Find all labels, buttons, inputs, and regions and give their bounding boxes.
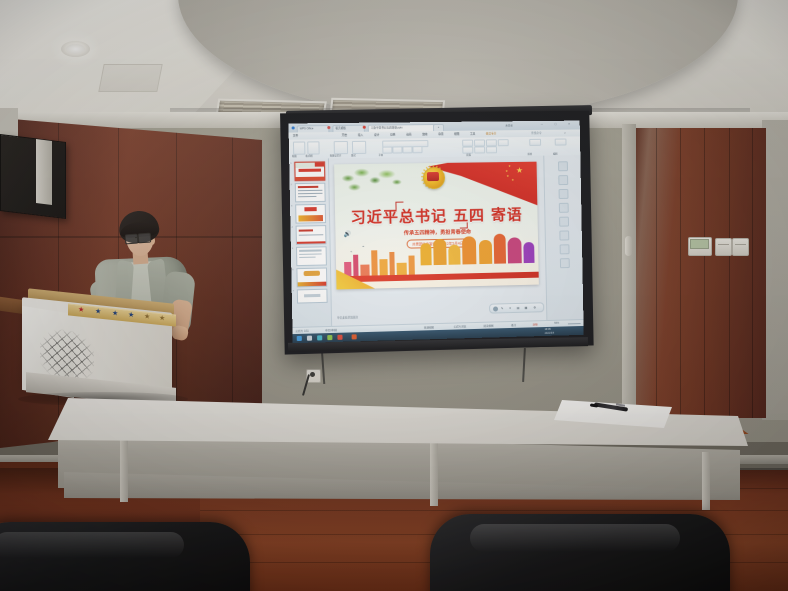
ribbon-font-label: 字体 <box>378 153 383 157</box>
flag-star-icon: ★ <box>506 175 509 178</box>
ribbon-line-spacing-button[interactable] <box>486 146 497 153</box>
foliage-decoration <box>340 165 403 196</box>
light-switch-icon[interactable] <box>732 238 749 256</box>
close-button[interactable]: ✕ <box>568 123 570 126</box>
view-sorter-button[interactable]: 幻灯片浏览 <box>454 324 467 328</box>
search-icon[interactable]: ⌕ <box>564 131 566 136</box>
maximize-button[interactable]: ▢ <box>554 123 556 126</box>
flag-star-icon: ★ <box>505 170 508 173</box>
ribbon-arrange-button[interactable] <box>529 139 541 146</box>
podium-star-icon: ★ <box>159 315 165 323</box>
slide-title: 习近平总书记 五四 寄语 <box>335 203 538 228</box>
flag-star-icon: ★ <box>511 179 514 182</box>
podium-star-icon: ★ <box>78 306 84 314</box>
podium-star-icon: ★ <box>112 310 118 318</box>
menu-member[interactable]: 会员专享 <box>486 131 497 136</box>
podium-star-icon: ★ <box>95 308 101 316</box>
wps-logo-icon <box>292 126 295 129</box>
browser-icon[interactable] <box>337 335 342 340</box>
tool-icon-elements[interactable] <box>559 189 569 199</box>
explorer-icon[interactable] <box>317 335 322 340</box>
downlight-lens <box>66 44 85 54</box>
thumb-number: 7 <box>293 290 294 292</box>
outlet-socket <box>310 372 315 377</box>
tool-icon-text[interactable] <box>559 203 569 213</box>
emblem-center <box>427 172 439 181</box>
ceiling-access-hatch <box>98 64 162 92</box>
notes-placeholder[interactable]: 单击此处添加备注 <box>337 315 358 320</box>
glasses-right-lens <box>138 233 152 244</box>
search-icon[interactable] <box>307 336 312 341</box>
floating-icon-grid[interactable]: ▦ <box>525 306 528 310</box>
thumb-number: 1 <box>290 163 291 165</box>
slide-thumbnail[interactable] <box>295 204 326 224</box>
menu-home[interactable]: 开始 <box>342 133 348 138</box>
slide-canvas[interactable]: ★ ★ ★ ★ ★ ⌁ ⌁ ⌁ 习近平总书记 <box>329 156 546 326</box>
menu-view[interactable]: 视图 <box>454 132 459 137</box>
chair-right-highlight <box>470 524 680 552</box>
view-normal-button[interactable]: 普通视图 <box>424 325 434 329</box>
floating-icon-settings[interactable]: ⚙ <box>533 305 536 309</box>
table-leg <box>430 442 438 506</box>
podium-star-icon: ★ <box>144 313 150 321</box>
slide-subtitle: 传承五四精神，勇担青春使命 <box>335 227 538 238</box>
wps-office-window: WPS Office 稻壳模板 习近平总书记五四寄语.pptx + 未登录 — … <box>288 121 583 344</box>
wall-speaker-face <box>36 139 52 205</box>
ribbon-layout-label: 版式 <box>351 153 356 157</box>
ribbon-format-painter-label: 格式刷 <box>305 154 312 158</box>
zoom-level[interactable]: 56% <box>554 322 559 325</box>
conference-room-photo: WPS Office 稻壳模板 习近平总书记五四寄语.pptx + 未登录 — … <box>0 0 788 591</box>
slide-thumbnail[interactable] <box>296 246 327 266</box>
menu-review[interactable]: 审阅 <box>438 132 443 137</box>
table-leg <box>702 452 710 510</box>
search-input[interactable]: 查找命令 <box>531 131 542 136</box>
ribbon-align-center-button[interactable] <box>498 139 509 146</box>
light-switch-icon[interactable] <box>715 238 732 256</box>
wps-icon[interactable] <box>327 335 332 340</box>
slide-thumbnail[interactable] <box>295 183 326 203</box>
menu-file[interactable]: 文件 <box>293 133 299 138</box>
current-slide[interactable]: ★ ★ ★ ★ ★ ⌁ ⌁ ⌁ 习近平总书记 <box>334 162 539 290</box>
thermostat-display <box>690 239 709 249</box>
flag-star-large-icon: ★ <box>516 167 523 175</box>
wall-speaker <box>0 134 66 219</box>
tool-icon-chart[interactable] <box>560 244 570 254</box>
ribbon-bold-button[interactable] <box>382 147 392 154</box>
view-slideshow-button[interactable]: 放映 <box>533 322 538 326</box>
door-jamb <box>622 124 636 420</box>
ppt-icon[interactable] <box>352 334 357 339</box>
thumb-number: 2 <box>291 184 292 186</box>
menu-tools[interactable]: 工具 <box>470 132 475 137</box>
ribbon-edit-button[interactable] <box>555 139 567 146</box>
tool-icon-properties[interactable] <box>558 161 568 171</box>
ppt-file-icon <box>363 126 366 129</box>
ribbon-outdent-button[interactable] <box>474 146 485 153</box>
floating-toolbar[interactable]: ✎ ✦ ▤ ▦ ⚙ <box>489 302 544 313</box>
zoom-slider[interactable] <box>568 323 581 324</box>
thumb-number: 4 <box>291 227 292 229</box>
menu-insert[interactable]: 插入 <box>358 133 364 138</box>
thumb-number: 3 <box>291 205 292 207</box>
slide-counter: 幻灯片 1/11 <box>296 329 309 333</box>
tool-icon-animation[interactable] <box>559 230 569 240</box>
right-tool-panel[interactable] <box>543 155 583 320</box>
language-label[interactable]: 中文(中国) <box>325 328 337 332</box>
ribbon-paste-label: 粘贴 <box>292 154 297 158</box>
podium-star-icon: ★ <box>128 312 134 320</box>
view-notes-button[interactable]: 备注 <box>511 323 516 327</box>
projector-screen-surface: WPS Office 稻壳模板 习近平总书记五四寄语.pptx + 未登录 — … <box>288 121 583 344</box>
glasses-left-lens <box>125 234 139 245</box>
account-label[interactable]: 未登录 <box>505 123 512 127</box>
wps-workspace: 1 2 3 <box>289 155 583 327</box>
menu-animation[interactable]: 动画 <box>406 132 411 137</box>
floating-icon-pen[interactable]: ✎ <box>501 306 504 310</box>
slide-thumbnail[interactable] <box>297 289 328 304</box>
slide-thumbnail[interactable] <box>294 161 325 181</box>
menu-transition[interactable]: 切换 <box>390 132 395 137</box>
ribbon-new-slide-label: 新建幻灯片 <box>330 153 342 157</box>
menu-slideshow[interactable]: 放映 <box>422 132 427 137</box>
slide-thumbnail[interactable] <box>296 267 327 287</box>
table-leg <box>120 432 128 502</box>
audio-speaker-icon[interactable]: 🔊 <box>344 231 352 238</box>
tool-icon-media[interactable] <box>559 217 569 227</box>
ribbon-italic-button[interactable] <box>392 146 402 153</box>
thumb-number: 5 <box>292 248 293 250</box>
door-latch-icon[interactable] <box>625 236 632 256</box>
thumb-number: 6 <box>292 269 293 271</box>
taskbar-date: 2022/5/4 <box>545 331 555 334</box>
floating-icon-note[interactable]: ▤ <box>517 306 520 310</box>
floating-icon-pointer[interactable] <box>493 306 498 311</box>
view-reading-button[interactable]: 阅读视图 <box>483 323 493 327</box>
ribbon-font-color-button[interactable] <box>412 146 422 153</box>
minimize-button[interactable]: — <box>541 123 544 126</box>
slide-thumbnail-panel[interactable]: 1 2 3 <box>289 158 332 327</box>
ribbon-underline-button[interactable] <box>402 146 412 153</box>
start-icon[interactable] <box>297 336 302 341</box>
menu-design[interactable]: 设计 <box>374 133 380 138</box>
template-icon <box>327 126 330 129</box>
right-wood-door-panel <box>634 128 766 418</box>
flag-star-icon: ★ <box>508 165 511 168</box>
tool-icon-design[interactable] <box>558 175 568 185</box>
floating-icon-laser[interactable]: ✦ <box>509 306 512 310</box>
tool-icon-more[interactable] <box>560 258 570 268</box>
chair-left-highlight <box>0 532 184 558</box>
slide-thumbnail[interactable] <box>296 225 327 245</box>
